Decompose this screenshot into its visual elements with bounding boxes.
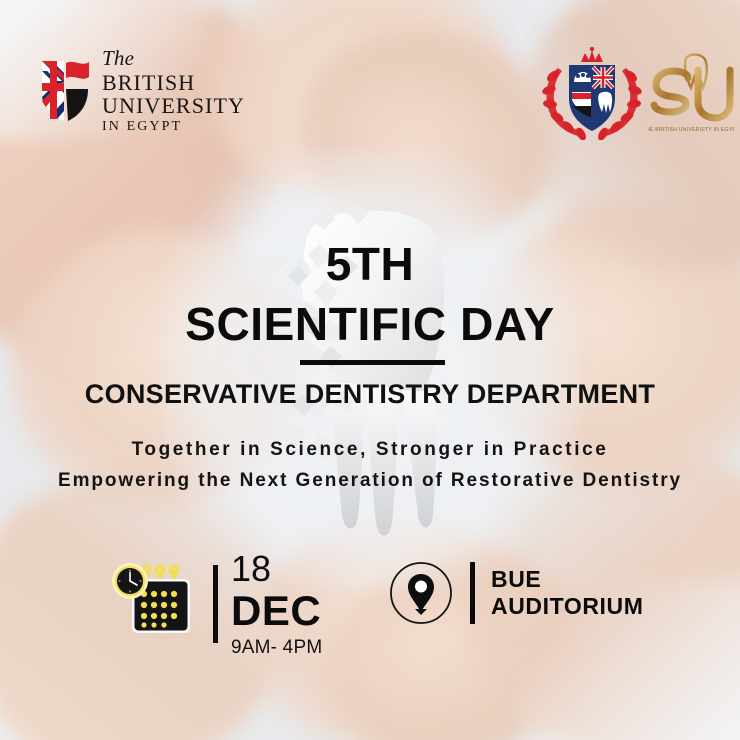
su-caption: THE BRITISH UNIVERSITY IN EGYPT [648,127,734,133]
bue-word-british: BRITISH [102,72,245,94]
headline-block: 5TH SCIENTIFIC DAY [0,241,740,347]
bue-word-university: UNIVERSITY [102,95,245,117]
headline-title: SCIENTIFIC DAY [0,301,740,347]
bue-logo: The BRITISH UNIVERSITY IN EGYPT [38,48,245,134]
event-location-block: BUE AUDITORIUM [388,560,644,626]
tagline-block: Together in Science, Stronger in Practic… [0,437,740,493]
bue-word-in-egypt: IN EGYPT [102,120,245,134]
location-text-block: BUE AUDITORIUM [491,566,644,620]
date-day: 18 [231,551,322,587]
tagline-line-1: Together in Science, Stronger in Practic… [0,437,740,463]
bue-word-the: The [102,48,245,69]
headline-ordinal: 5TH [0,241,740,287]
date-time: 9AM- 4PM [231,638,322,657]
bue-wordmark: The BRITISH UNIVERSITY IN EGYPT [102,48,245,134]
headline-divider [300,360,445,365]
location-line-2: AUDITORIUM [491,593,644,620]
event-poster: The BRITISH UNIVERSITY IN EGYPT [0,0,740,740]
calendar-clock-icon [108,560,200,648]
date-month: DEC [231,590,322,632]
location-pin-icon [388,560,454,626]
department-name: CONSERVATIVE DENTISTRY DEPARTMENT [0,379,740,410]
date-separator-bar [213,565,218,643]
date-text-block: 18 DEC 9AM- 4PM [231,551,322,657]
bue-shield-icon [38,57,91,125]
location-separator-bar [470,562,475,624]
tagline-line-2: Empowering the Next Generation of Restor… [0,468,740,494]
location-line-1: BUE [491,566,644,593]
dentistry-crest-logo [536,46,648,140]
event-date-block: 18 DEC 9AM- 4PM [108,551,322,657]
student-union-logo: THE BRITISH UNIVERSITY IN EGYPT [648,52,734,138]
